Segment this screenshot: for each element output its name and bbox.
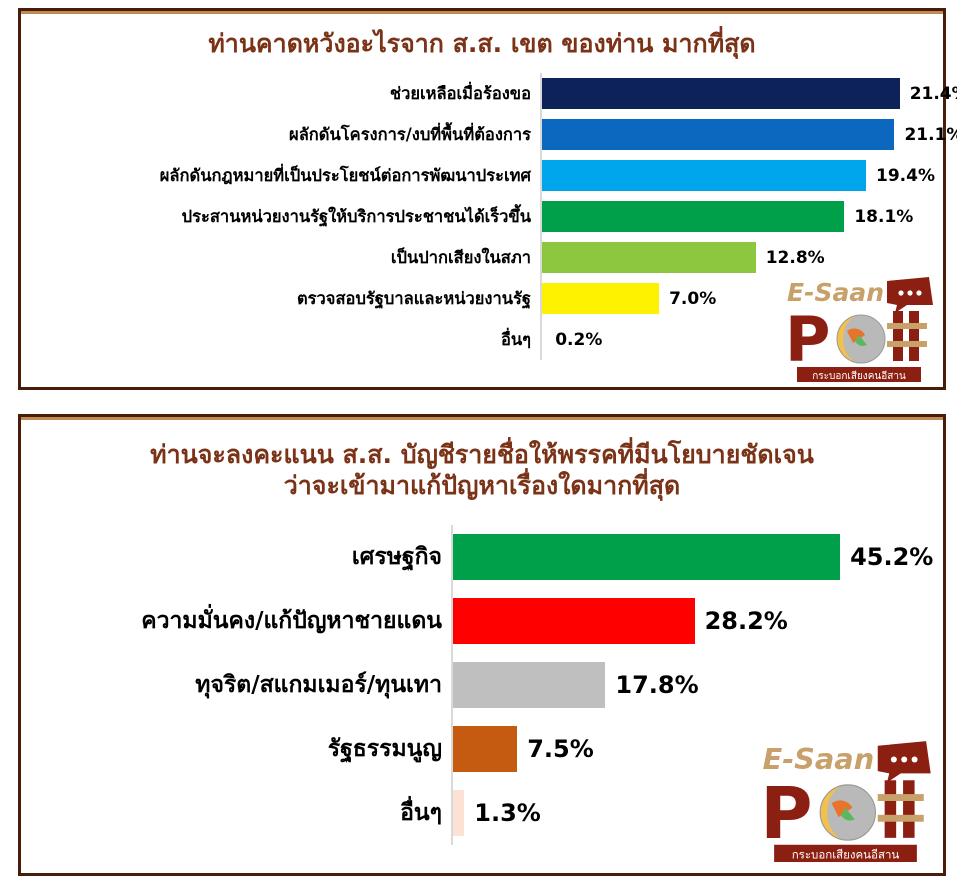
- chart-2-bar-value: 28.2%: [695, 607, 788, 635]
- chart-1-bar-zone: 21.4%: [540, 73, 943, 114]
- chart-1-category-label: ผลักดันโครงการ/งบที่พื้นที่ต้องการ: [21, 122, 540, 148]
- svg-text:กระบอกเสียงคนอีสาน: กระบอกเสียงคนอีสาน: [812, 370, 906, 382]
- chart-2-row: ความมั่นคง/แก้ปัญหาชายแดน 28.2%: [21, 589, 943, 653]
- chart-2-category-label: ความมั่นคง/แก้ปัญหาชายแดน: [21, 603, 451, 639]
- chart-1-row: ประสานหน่วยงานรัฐให้บริการประชาชนได้เร็ว…: [21, 196, 943, 237]
- chart-1-bar: [542, 201, 844, 233]
- chart-1-row: ช่วยเหลือเมื่อร้องขอ 21.4%: [21, 73, 943, 114]
- chart-1-bar: [542, 78, 900, 110]
- svg-text:P: P: [760, 772, 812, 855]
- chart-2-bar-zone: 45.2%: [451, 525, 943, 589]
- chart-1-row: ผลักดันโครงการ/งบที่พื้นที่ต้องการ 21.1%: [21, 114, 943, 155]
- chart-1-bar-zone: 12.8%: [540, 237, 943, 278]
- chart-1-category-label: ช่วยเหลือเมื่อร้องขอ: [21, 81, 540, 107]
- chart-2-bar: [453, 790, 464, 836]
- chart-2-bar: [453, 726, 517, 772]
- chart-1-category-label: เป็นปากเสียงในสภา: [21, 245, 540, 271]
- chart-1-bar: [542, 160, 866, 192]
- chart-2-bar-zone: 17.8%: [451, 653, 943, 717]
- chart-1-title-line-1: ท่านคาดหวังอะไรจาก ส.ส. เขต ของท่าน มากท…: [21, 28, 943, 59]
- chart-2-category-label: รัฐธรรมนูญ: [21, 731, 451, 767]
- chart-1-category-label: ผลักดันกฎหมายที่เป็นประโยชน์ต่อการพัฒนาป…: [21, 163, 540, 189]
- logo-speech-bubble-icon: [878, 741, 931, 782]
- chart-1-bar-zone: 21.1%: [540, 114, 943, 155]
- chart-1-row: เป็นปากเสียงในสภา 12.8%: [21, 237, 943, 278]
- chart-2-category-label: เศรษฐกิจ: [21, 539, 451, 575]
- chart-2-bar-value: 7.5%: [517, 735, 594, 763]
- chart-2-category-label: อื่นๆ: [21, 795, 451, 831]
- logo-globe-icon: [820, 785, 875, 840]
- panel-top-accent: [21, 417, 943, 420]
- svg-text:E-Saan: E-Saan: [763, 742, 875, 776]
- chart-1-bar-value: 21.4%: [900, 84, 957, 104]
- logo-speech-bubble-icon: [887, 277, 933, 313]
- chart-2-bar-value: 1.3%: [464, 799, 541, 827]
- chart-panel-1: ท่านคาดหวังอะไรจาก ส.ส. เขต ของท่าน มากท…: [18, 8, 946, 390]
- chart-2-bar: [453, 662, 605, 708]
- panel-top-accent: [21, 11, 943, 14]
- poll-infographic: ท่านคาดหวังอะไรจาก ส.ส. เขต ของท่าน มากท…: [0, 0, 957, 890]
- logo-globe-icon: [837, 315, 885, 363]
- svg-text:P: P: [785, 303, 830, 376]
- chart-1-bar-value: 19.4%: [866, 166, 935, 186]
- chart-1-bar-value: 0.2%: [545, 330, 602, 350]
- chart-panel-2: ท่านจะลงคะแนน ส.ส. บัญชีรายชื่อให้พรรคที…: [18, 414, 946, 876]
- chart-1-bar-value: 12.8%: [756, 248, 825, 268]
- chart-1-row: ผลักดันกฎหมายที่เป็นประโยชน์ต่อการพัฒนาป…: [21, 155, 943, 196]
- logo-tagline: กระบอกเสียงคนอีสาน: [774, 845, 917, 862]
- esaan-poll-logo: E-Saan P: [783, 275, 935, 383]
- chart-1-bar: [542, 119, 894, 151]
- chart-2-bar-value: 45.2%: [840, 543, 933, 571]
- chart-2-title-line-1: ท่านจะลงคะแนน ส.ส. บัญชีรายชื่อให้พรรคที…: [21, 439, 943, 470]
- logo-tagline: กระบอกเสียงคนอีสาน: [797, 367, 921, 382]
- chart-1-bar: [542, 242, 756, 274]
- chart-2-title: ท่านจะลงคะแนน ส.ส. บัญชีรายชื่อให้พรรคที…: [21, 439, 943, 502]
- chart-1-bar-value: 18.1%: [844, 207, 913, 227]
- chart-2-category-label: ทุจริต/สแกมเมอร์/ทุนเทา: [21, 667, 451, 703]
- chart-2-bar: [453, 598, 695, 644]
- chart-2-row: เศรษฐกิจ 45.2%: [21, 525, 943, 589]
- chart-1-category-label: ประสานหน่วยงานรัฐให้บริการประชาชนได้เร็ว…: [21, 204, 540, 230]
- chart-2-title-line-2: ว่าจะเข้ามาแก้ปัญหาเรื่องใดมากที่สุด: [21, 470, 943, 501]
- chart-1-title: ท่านคาดหวังอะไรจาก ส.ส. เขต ของท่าน มากท…: [21, 28, 943, 59]
- esaan-poll-logo: E-Saan P: [758, 737, 933, 865]
- chart-2-row: ทุจริต/สแกมเมอร์/ทุนเทา 17.8%: [21, 653, 943, 717]
- chart-1-category-label: ตรวจสอบรัฐบาลและหน่วยงานรัฐ: [21, 286, 540, 312]
- svg-text:กระบอกเสียงคนอีสาน: กระบอกเสียงคนอีสาน: [792, 848, 900, 862]
- chart-1-bar-value: 7.0%: [659, 289, 716, 309]
- chart-2-bar: [453, 534, 840, 580]
- logo-brand-top-text: E-Saan: [763, 742, 875, 776]
- chart-1-bar-zone: 18.1%: [540, 196, 943, 237]
- chart-1-bar-value: 21.1%: [894, 125, 957, 145]
- chart-1-bar: [542, 283, 659, 315]
- chart-2-bar-value: 17.8%: [605, 671, 698, 699]
- chart-1-bar-zone: 19.4%: [540, 155, 943, 196]
- chart-2-bar-zone: 28.2%: [451, 589, 943, 653]
- chart-1-category-label: อื่นๆ: [21, 327, 540, 353]
